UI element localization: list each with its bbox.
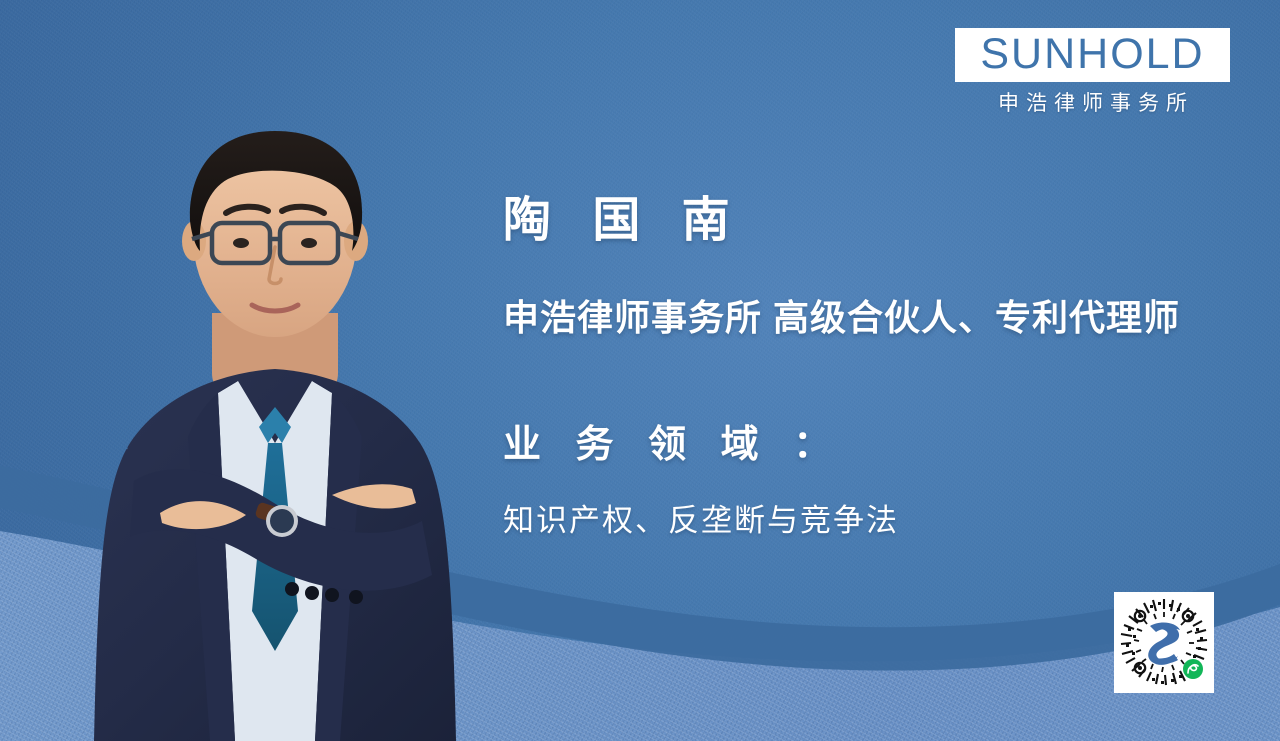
logo-wordmark-box: SUNHOLD <box>955 28 1230 82</box>
practice-areas-value: 知识产权、反垄断与竞争法 <box>503 500 1280 542</box>
miniprogram-badge <box>1183 659 1203 679</box>
lawyer-name: 陶 国 南 <box>503 190 1280 252</box>
logo-wordmark: SUNHOLD <box>965 32 1220 76</box>
wechat-miniprogram-qr-code[interactable] <box>1114 592 1214 693</box>
lawyer-title: 申浩律师事务所 高级合伙人、专利代理师 <box>503 294 1280 342</box>
portrait-photo <box>60 51 490 741</box>
lawyer-profile-card: SUNHOLD 申浩律师事务所 陶 国 南 申浩律师事务所 高级合伙人、专利代理… <box>0 0 1280 741</box>
firm-logo: SUNHOLD 申浩律师事务所 <box>955 28 1230 116</box>
profile-content: 陶 国 南 申浩律师事务所 高级合伙人、专利代理师 业 务 领 域 ： 知识产权… <box>503 190 1280 542</box>
logo-chinese-name: 申浩律师事务所 <box>955 92 1230 116</box>
practice-areas-label: 业 务 领 域 ： <box>503 420 1280 470</box>
